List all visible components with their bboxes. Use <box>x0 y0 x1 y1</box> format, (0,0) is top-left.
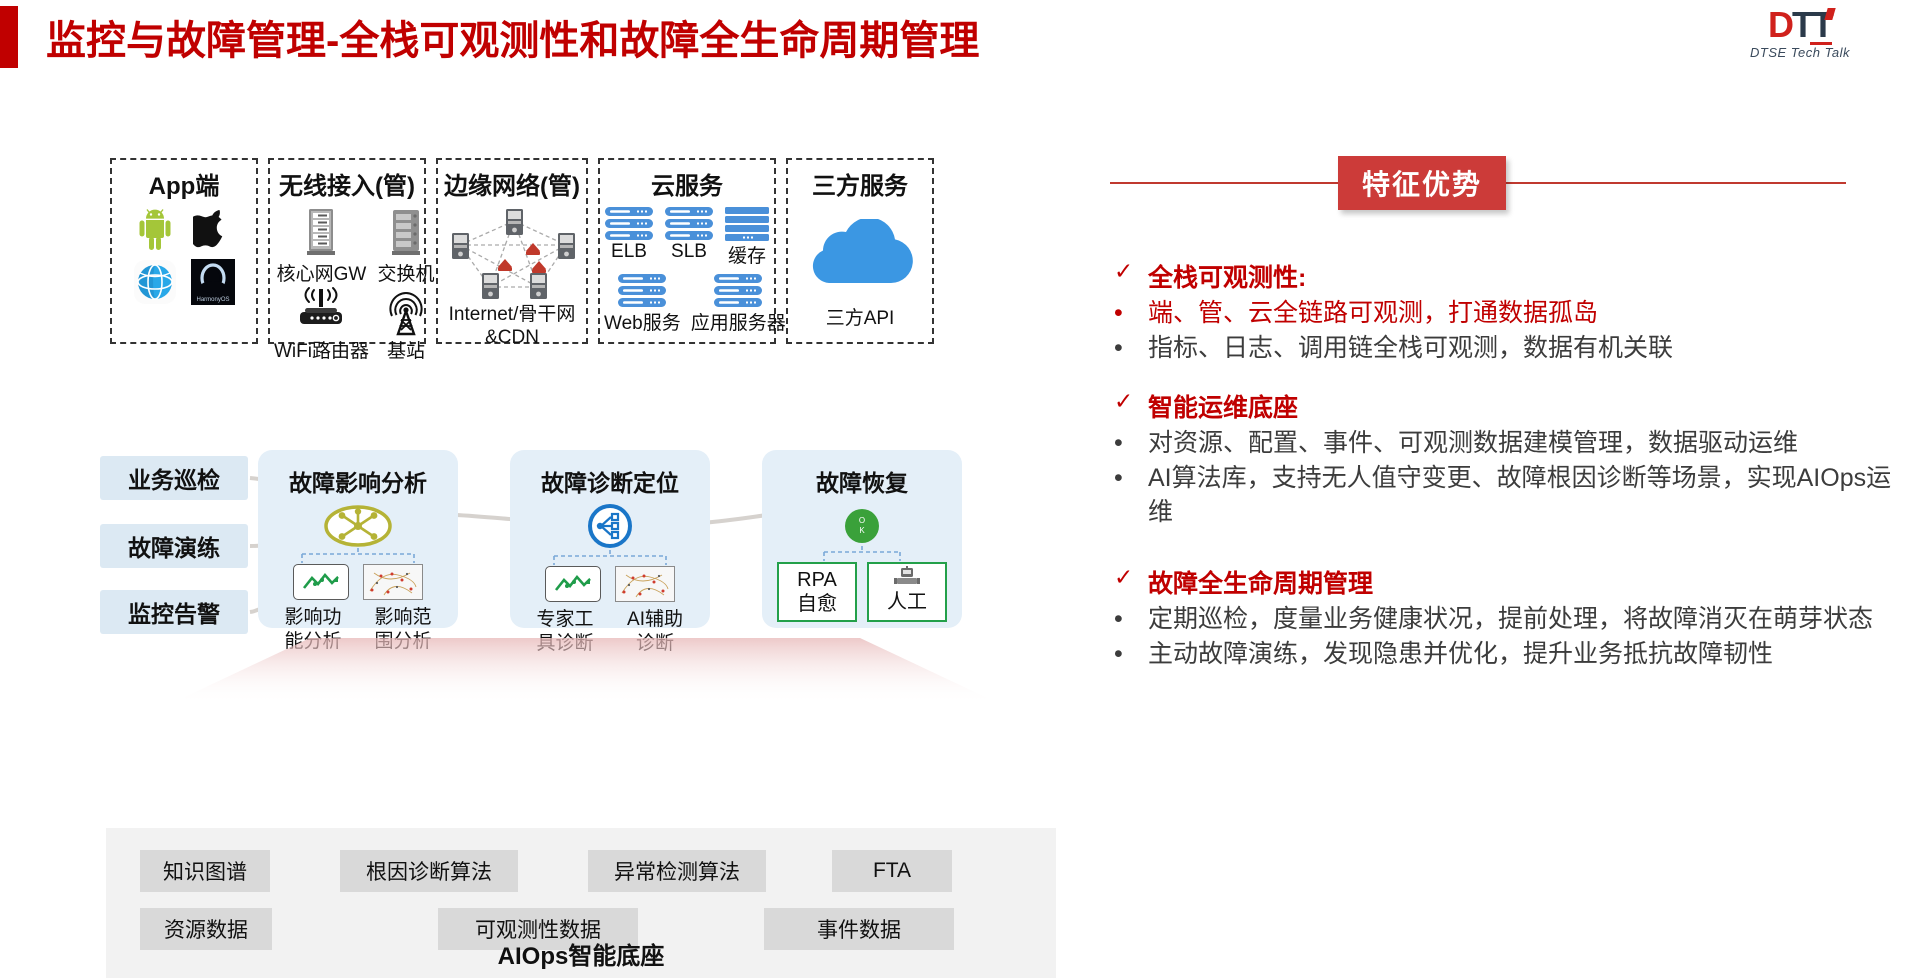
wireless-caption-0: 核心网GW <box>277 259 367 286</box>
feature-heading: ✓ 全栈可观测性: <box>1114 258 1904 294</box>
wireless-caption-3: 基站 <box>387 336 425 363</box>
wireless-caption-2: WiFi路由器 <box>274 336 369 363</box>
cloud-grid-row1: ELB SLB 缓存 <box>604 207 770 268</box>
edge-caption-line2: &CDN <box>442 326 582 349</box>
stage-impact-analysis[interactable]: 故障影响分析 <box>258 450 458 628</box>
check-icon: ✓ <box>1114 258 1148 285</box>
feature-group-aiops-base: ✓ 智能运维底座 • 对资源、配置、事件、可观测数据建模管理，数据驱动运维 • … <box>1114 388 1904 530</box>
features-ribbon-wrap: 特征优势 <box>1110 156 1910 210</box>
edge-caption-line1: Internet/骨干网 <box>442 303 582 326</box>
tier-body-app: HarmonyOS <box>116 207 252 307</box>
feature-group-lifecycle: ✓ 故障全生命周期管理 • 定期巡检，度量业务健康状况，提前处理，将故障消灭在萌… <box>1114 564 1904 672</box>
cloud-caption-elb: ELB <box>611 241 647 268</box>
robot-icon <box>894 566 920 586</box>
feature-bullet: • 主动故障演练，发现隐患并优化，提升业务抵抗故障韧性 <box>1114 637 1904 671</box>
cloud-icon <box>799 219 921 293</box>
logo-tick-icon <box>1824 8 1835 20</box>
bullet-icon: • <box>1114 331 1148 365</box>
feature-bullet: • 端、管、云全链路可观测，打通数据孤岛 <box>1114 296 1904 330</box>
topology-map-icon <box>363 564 423 600</box>
left-diagram-column: App端 <box>0 78 1090 968</box>
metric-chart-icon <box>545 566 601 602</box>
stage-title: 故障影响分析 <box>258 464 458 498</box>
android-icon <box>133 207 177 253</box>
base-station-icon <box>377 286 435 336</box>
tier-title-wireless: 无线接入(管) <box>274 166 420 201</box>
header-accent-bar <box>0 6 18 68</box>
rpa-label-line2: 自愈 <box>785 592 849 616</box>
manual-box[interactable]: 人工 <box>867 562 947 622</box>
logo-mark: DTT <box>1768 6 1832 44</box>
base-chip-rootcause-algo[interactable]: 根因诊断算法 <box>340 850 518 892</box>
stage-dashed-connector <box>258 548 458 564</box>
architecture-tier-row: App端 <box>110 158 934 344</box>
tier-title-cloud: 云服务 <box>604 166 770 201</box>
feature-heading: ✓ 故障全生命周期管理 <box>1114 564 1904 600</box>
topology-icon <box>585 502 635 550</box>
trigger-fault-drill[interactable]: 故障演练 <box>100 524 248 568</box>
feature-bullet-text: 定期巡检，度量业务健康状况，提前处理，将故障消灭在萌芽状态 <box>1148 602 1904 636</box>
base-row-algorithms: 知识图谱 根因诊断算法 异常检测算法 FTA <box>106 850 1056 892</box>
stage-dashed-connector <box>510 550 710 566</box>
server-stack-icon <box>618 274 666 308</box>
feature-bullet-text: 对资源、配置、事件、可观测数据建模管理，数据驱动运维 <box>1148 426 1904 460</box>
feature-heading-text: 全栈可观测性: <box>1148 258 1306 294</box>
feature-bullet-text: AI算法库，支持无人值守变更、故障根因诊断等场景，实现AIOps运维 <box>1148 461 1904 529</box>
bullet-icon: • <box>1114 461 1148 495</box>
logo-underbar-icon <box>1810 42 1832 45</box>
logo-letter-d: D <box>1768 4 1792 45</box>
apple-icon <box>193 207 233 253</box>
bullet-icon: • <box>1114 602 1148 636</box>
tier-box-app: App端 <box>110 158 258 344</box>
router-node-icons <box>498 243 546 273</box>
stage-mini-icons <box>258 564 458 600</box>
trigger-monitor-alarm[interactable]: 监控告警 <box>100 590 248 634</box>
ribbon-line-left <box>1110 182 1338 184</box>
bullet-icon: • <box>1114 426 1148 460</box>
logo-subtitle: DTSE Tech Talk <box>1705 45 1895 60</box>
stage-title: 故障诊断定位 <box>510 464 710 498</box>
topology-map-icon <box>615 566 675 602</box>
tier-box-cloud: 云服务 <box>598 158 776 344</box>
thirdparty-caption: 三方API <box>792 303 928 330</box>
trigger-label: 业务巡检 <box>128 461 220 495</box>
cloud-grid-row2: Web服务 应用服务器 DB <box>604 274 770 335</box>
tier-box-wireless: 无线接入(管) <box>268 158 426 344</box>
harmonyos-icon: HarmonyOS <box>189 257 237 307</box>
browser-icon <box>131 257 179 307</box>
base-chip-anomaly-algo[interactable]: 异常检测算法 <box>588 850 766 892</box>
tier-box-thirdparty: 三方服务 三方API <box>786 158 934 344</box>
feature-group-observability: ✓ 全栈可观测性: • 端、管、云全链路可观测，打通数据孤岛 • 指标、日志、调… <box>1114 258 1904 366</box>
bullet-icon: • <box>1114 637 1148 671</box>
fault-flow-section: 业务巡检 故障演练 监控告警 故障影响分析 <box>100 450 1060 645</box>
feature-bullet: • 指标、日志、调用链全栈可观测，数据有机关联 <box>1114 331 1904 365</box>
tier-box-edge: 边缘网络(管) <box>436 158 588 344</box>
check-icon: ✓ <box>1114 564 1148 591</box>
tier-title-edge: 边缘网络(管) <box>442 166 582 201</box>
edge-caption: Internet/骨干网 &CDN <box>442 303 582 349</box>
server-stack-icon <box>714 274 762 308</box>
trigger-label: 监控告警 <box>128 595 220 629</box>
features-ribbon-title: 特征优势 <box>1338 156 1506 210</box>
tier-title-app: App端 <box>116 166 252 201</box>
tier-title-thirdparty: 三方服务 <box>792 166 928 201</box>
bullet-icon: • <box>1114 296 1148 330</box>
flow-to-base-flare <box>100 638 1060 708</box>
switch-icon <box>389 207 423 259</box>
wifi-router-icon <box>292 286 350 336</box>
ribbon-line-right <box>1506 182 1846 184</box>
feature-bullet-text: 指标、日志、调用链全栈可观测，数据有机关联 <box>1148 331 1904 365</box>
cloud-caption-appserver: 应用服务器 <box>691 308 786 335</box>
wireless-icon-grid: 核心网GW 交换机 <box>274 207 420 363</box>
cloud-caption-cache: 缓存 <box>728 241 766 268</box>
server-stack-icon <box>665 207 713 241</box>
page-header: 监控与故障管理-全栈可观测性和故障全生命周期管理 DTT DTSE Tech T… <box>0 0 1919 78</box>
edge-mesh-diagram-icon <box>442 207 588 303</box>
stage-fault-diagnosis[interactable]: 故障诊断定位 <box>510 450 710 628</box>
feature-bullet: • AI算法库，支持无人值守变更、故障根因诊断等场景，实现AIOps运维 <box>1114 461 1904 529</box>
rpa-self-healing-box[interactable]: RPA 自愈 <box>777 562 857 622</box>
rpa-label-line1: RPA <box>785 568 849 592</box>
ok-circle-icon: O K <box>842 506 882 546</box>
trigger-label: 故障演练 <box>128 529 220 563</box>
stage-dashed-connector <box>762 546 962 562</box>
app-icon-grid: HarmonyOS <box>131 207 237 307</box>
aiops-base-platform: 知识图谱 根因诊断算法 异常检测算法 FTA 资源数据 可观测性数据 事件数据 … <box>106 828 1056 978</box>
metric-chart-icon <box>293 564 349 600</box>
share-nodes-icon <box>323 504 393 548</box>
base-platform-label: AIOps智能底座 <box>106 936 1056 971</box>
svg-text:O: O <box>859 516 865 525</box>
rack-server-icon <box>304 207 338 259</box>
base-chip-fta[interactable]: FTA <box>832 850 952 892</box>
check-icon: ✓ <box>1114 388 1148 415</box>
feature-heading-text: 故障全生命周期管理 <box>1148 564 1373 600</box>
cloud-caption-slb: SLB <box>671 241 707 268</box>
svg-text:HarmonyOS: HarmonyOS <box>196 297 229 303</box>
feature-heading-text: 智能运维底座 <box>1148 388 1298 424</box>
page-title: 监控与故障管理-全栈可观测性和故障全生命周期管理 <box>46 8 979 66</box>
feature-bullet: • 对资源、配置、事件、可观测数据建模管理，数据驱动运维 <box>1114 426 1904 460</box>
stage-title: 故障恢复 <box>762 464 962 498</box>
feature-heading: ✓ 智能运维底座 <box>1114 388 1904 424</box>
wireless-caption-1: 交换机 <box>377 259 434 286</box>
database-icon <box>725 207 769 241</box>
feature-bullet-text: 主动故障演练，发现隐患并优化，提升业务抵抗故障韧性 <box>1148 637 1904 671</box>
svg-text:K: K <box>859 526 865 535</box>
manual-label: 人工 <box>875 591 939 613</box>
stage-mini-icons <box>510 566 710 602</box>
stage-fault-recovery[interactable]: 故障恢复 O K RPA 自愈 <box>762 450 962 628</box>
trigger-business-inspection[interactable]: 业务巡检 <box>100 456 248 500</box>
base-chip-knowledge-graph[interactable]: 知识图谱 <box>140 850 270 892</box>
feature-bullet-text: 端、管、云全链路可观测，打通数据孤岛 <box>1148 296 1904 330</box>
dtt-logo: DTT DTSE Tech Talk <box>1705 6 1895 68</box>
feature-bullet: • 定期巡检，度量业务健康状况，提前处理，将故障消灭在萌芽状态 <box>1114 602 1904 636</box>
server-stack-icon <box>605 207 653 241</box>
features-panel: 特征优势 ✓ 全栈可观测性: • 端、管、云全链路可观测，打通数据孤岛 • 指标… <box>1110 78 1910 968</box>
cloud-caption-web: Web服务 <box>604 308 681 335</box>
recovery-options: RPA 自愈 人工 <box>762 562 962 622</box>
